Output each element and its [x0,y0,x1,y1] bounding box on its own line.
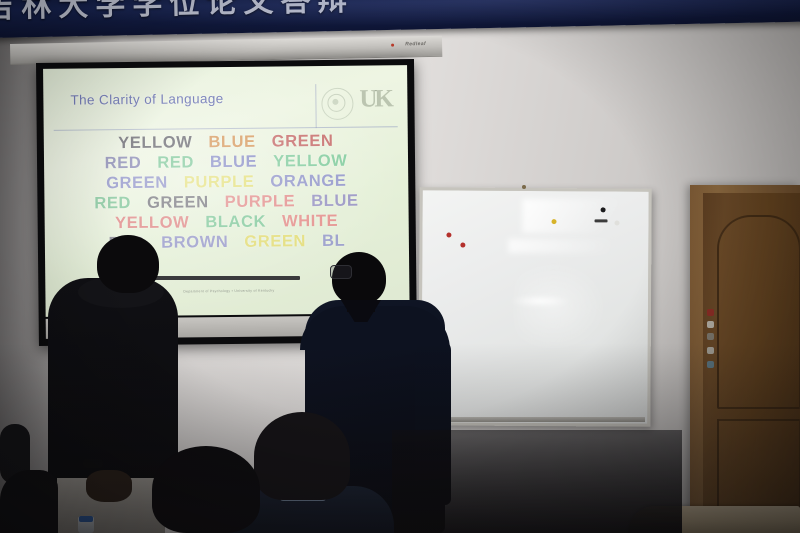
stroop-word: YELLOW [273,152,347,172]
magnet-red-1 [446,232,451,237]
whiteboard-magnets [423,190,649,191]
stroop-word-grid: YELLOWBLUEGREENREDREDBLUEYELLOWGREENPURP… [44,131,409,255]
magnet-red-2 [460,243,465,248]
stroop-row: GREENPURPLEORANGE [44,171,408,194]
slide-footer-text: Department of Psychology • University of… [183,289,274,294]
slide-title: The Clarity of Language [70,91,223,108]
stroop-row: YELLOWBLACKWHITE [45,211,409,234]
wall-shadow-bottom [0,343,800,533]
uk-logo: UK [359,86,391,111]
whiteboard-glare [510,295,570,307]
stroop-word: BLUE [208,133,256,152]
stroop-word: YELLOW [115,213,189,233]
head [97,235,159,293]
stroop-word: PURPLE [184,173,255,193]
stroop-word: GREEN [147,193,209,213]
stroop-word: ORANGE [270,172,346,192]
stroop-word: BLUE [311,192,359,211]
stroop-word: BL [322,232,345,251]
stroop-word: RED [94,194,131,213]
stroop-word: RED [105,154,142,173]
projector-brand-label: Redleaf [405,41,426,47]
stroop-row: REDGREENPURPLEBLUE [44,191,408,214]
stroop-word: GREEN [244,232,306,252]
magnet-yellow [552,219,557,224]
stroop-word: GREEN [272,132,334,152]
university-seal-icon [321,88,353,120]
stroop-word: WHITE [282,212,338,232]
stroop-word: BLUE [210,153,258,172]
whiteboard-top-pin-icon [522,185,526,189]
lecture-room-photo: 吉林大学学位论文答辩 Dissertation/ Thesis Defense,… [0,0,800,533]
header-divider-vertical [315,84,316,128]
whiteboard-marker [595,219,608,222]
stroop-word: BLACK [205,213,266,233]
stroop-word: PURPLE [225,192,296,212]
stroop-row: YELLOWBLUEGREEN [44,131,408,154]
stroop-word: BROWN [161,233,228,253]
stroop-word: RED [157,153,194,172]
stroop-word: YELLOW [118,133,192,153]
header-divider-horizontal [54,126,398,131]
stroop-word: GREEN [106,174,168,194]
power-led-icon [391,44,394,47]
magnet-white [614,220,619,225]
slide-header: The Clarity of Language UK [43,83,407,131]
eyeglasses-icon [330,265,352,279]
whiteboard-glare [508,239,638,254]
whiteboard-glare [522,199,642,234]
stroop-row: REDREDBLUEYELLOW [44,151,408,174]
magnet-black [601,207,606,212]
